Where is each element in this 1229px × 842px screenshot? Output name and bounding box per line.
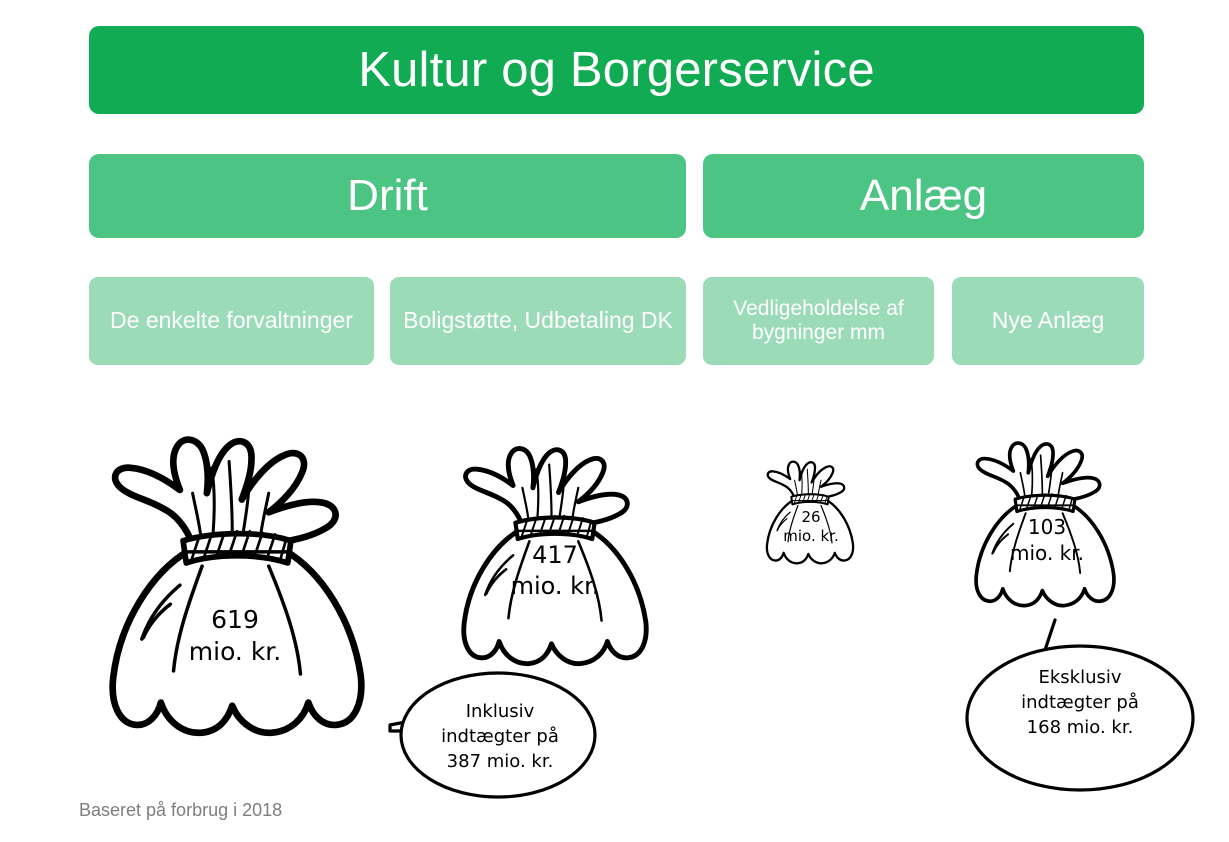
callout-bubble-left <box>401 673 595 797</box>
subcategory-box-de-enkelte-forvaltninger: De enkelte forvaltninger <box>89 277 374 365</box>
page-title: Kultur og Borgerservice <box>89 26 1144 114</box>
subcategory-box-nye-anlaeg: Nye Anlæg <box>952 277 1144 365</box>
money-bag-illustration <box>755 447 865 575</box>
callout-inklusiv-indtaegter <box>330 640 600 810</box>
footnote-source: Baseret på forbrug i 2018 <box>79 800 282 821</box>
category-banner-anlaeg: Anlæg <box>703 154 1144 238</box>
category-banner-drift: Drift <box>89 154 686 238</box>
callout-eksklusiv-indtaegter <box>935 590 1225 805</box>
money-bag-vedligeholdelse-bygninger <box>755 447 865 575</box>
infographic-canvas: Kultur og Borgerservice Drift Anlæg De e… <box>0 0 1229 842</box>
callout-bubble-right <box>967 646 1193 790</box>
subcategory-box-vedligeholdelse-bygninger: Vedligeholdelse af bygninger mm <box>703 277 934 365</box>
subcategory-box-boligstotte-udbetaling-dk: Boligstøtte, Udbetaling DK <box>390 277 686 365</box>
